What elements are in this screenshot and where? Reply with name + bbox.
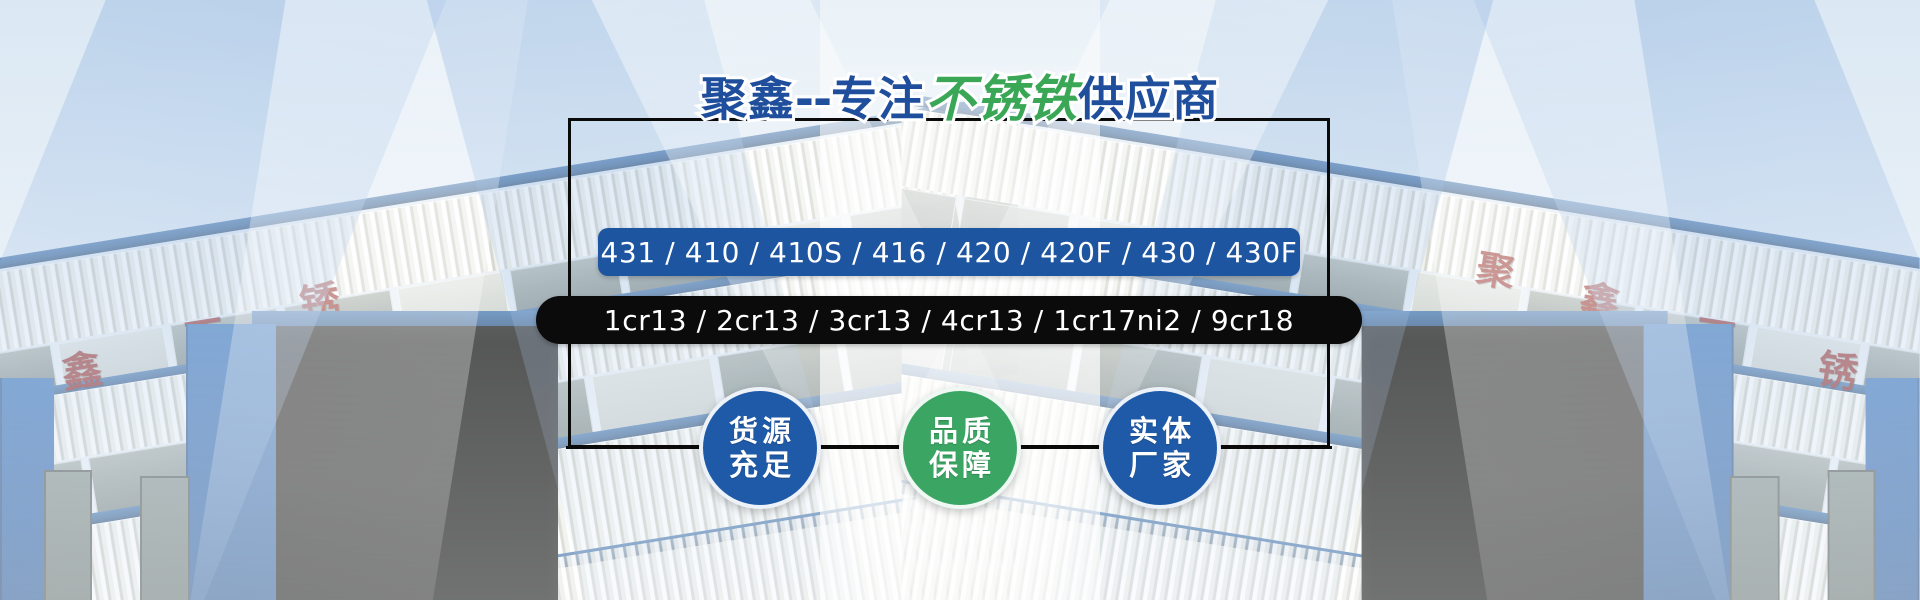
badge-quality: 品质 保障 bbox=[899, 387, 1021, 509]
headline: 聚鑫--专注不锈铁供应商 bbox=[0, 72, 1920, 124]
grade-bar-primary: 431 / 410 / 410S / 416 / 420 / 420F / 43… bbox=[598, 228, 1300, 276]
headline-brand: 聚鑫 bbox=[701, 76, 795, 122]
badge-factory-line2: 厂家 bbox=[1125, 448, 1195, 482]
headline-highlight: 不锈铁 bbox=[925, 74, 1078, 124]
badge-supply: 货源 充足 bbox=[699, 387, 821, 509]
grade-bar-secondary-text: 1cr13 / 2cr13 / 3cr13 / 4cr13 / 1cr17ni2… bbox=[604, 304, 1294, 337]
grade-bar-secondary: 1cr13 / 2cr13 / 3cr13 / 4cr13 / 1cr17ni2… bbox=[536, 296, 1362, 344]
badge-quality-line2: 保障 bbox=[925, 448, 995, 482]
badge-supply-line1: 货源 bbox=[725, 414, 795, 448]
badge-factory: 实体 厂家 bbox=[1099, 387, 1221, 509]
badge-quality-line1: 品质 bbox=[925, 414, 995, 448]
grade-bar-primary-text: 431 / 410 / 410S / 416 / 420 / 420F / 43… bbox=[601, 236, 1298, 269]
headline-supplier: 供应商 bbox=[1078, 76, 1219, 122]
promo-banner: 鑫 不 锈 bbox=[0, 0, 1920, 600]
badge-factory-line1: 实体 bbox=[1125, 414, 1195, 448]
headline-focus: 专注 bbox=[831, 76, 925, 122]
headline-dash: -- bbox=[795, 76, 831, 122]
feature-badges: 货源 充足 品质 保障 实体 厂家 bbox=[0, 386, 1920, 510]
badge-supply-line2: 充足 bbox=[725, 448, 795, 482]
banner-content: 聚鑫--专注不锈铁供应商 431 / 410 / 410S / 416 / 42… bbox=[0, 0, 1920, 600]
